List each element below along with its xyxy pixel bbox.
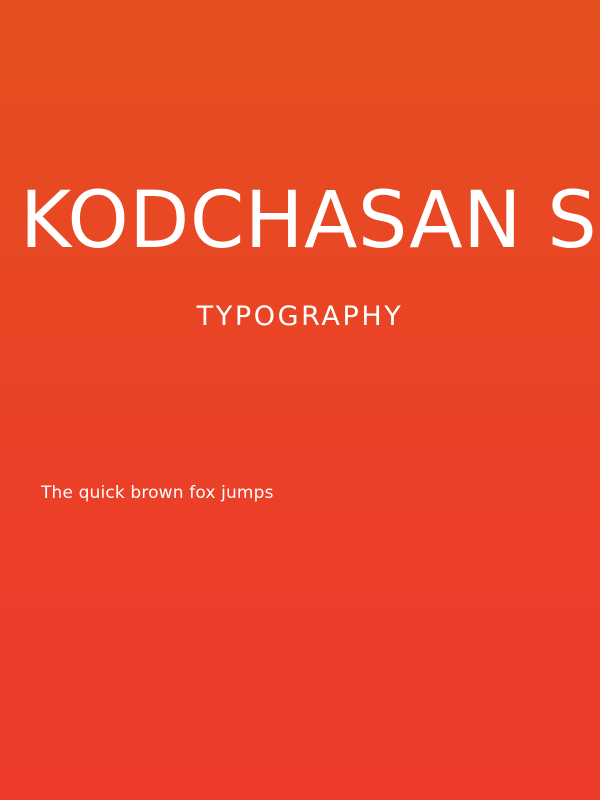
pangram-sample-text: The quick brown fox jumps (41, 483, 581, 504)
font-name-headline: KODCHASAN SEMIBOLD (20, 182, 600, 260)
font-specimen-poster: KODCHASAN SEMIBOLD TYPOGRAPHY The quick … (0, 0, 600, 800)
specimen-subtitle: TYPOGRAPHY (0, 303, 600, 330)
